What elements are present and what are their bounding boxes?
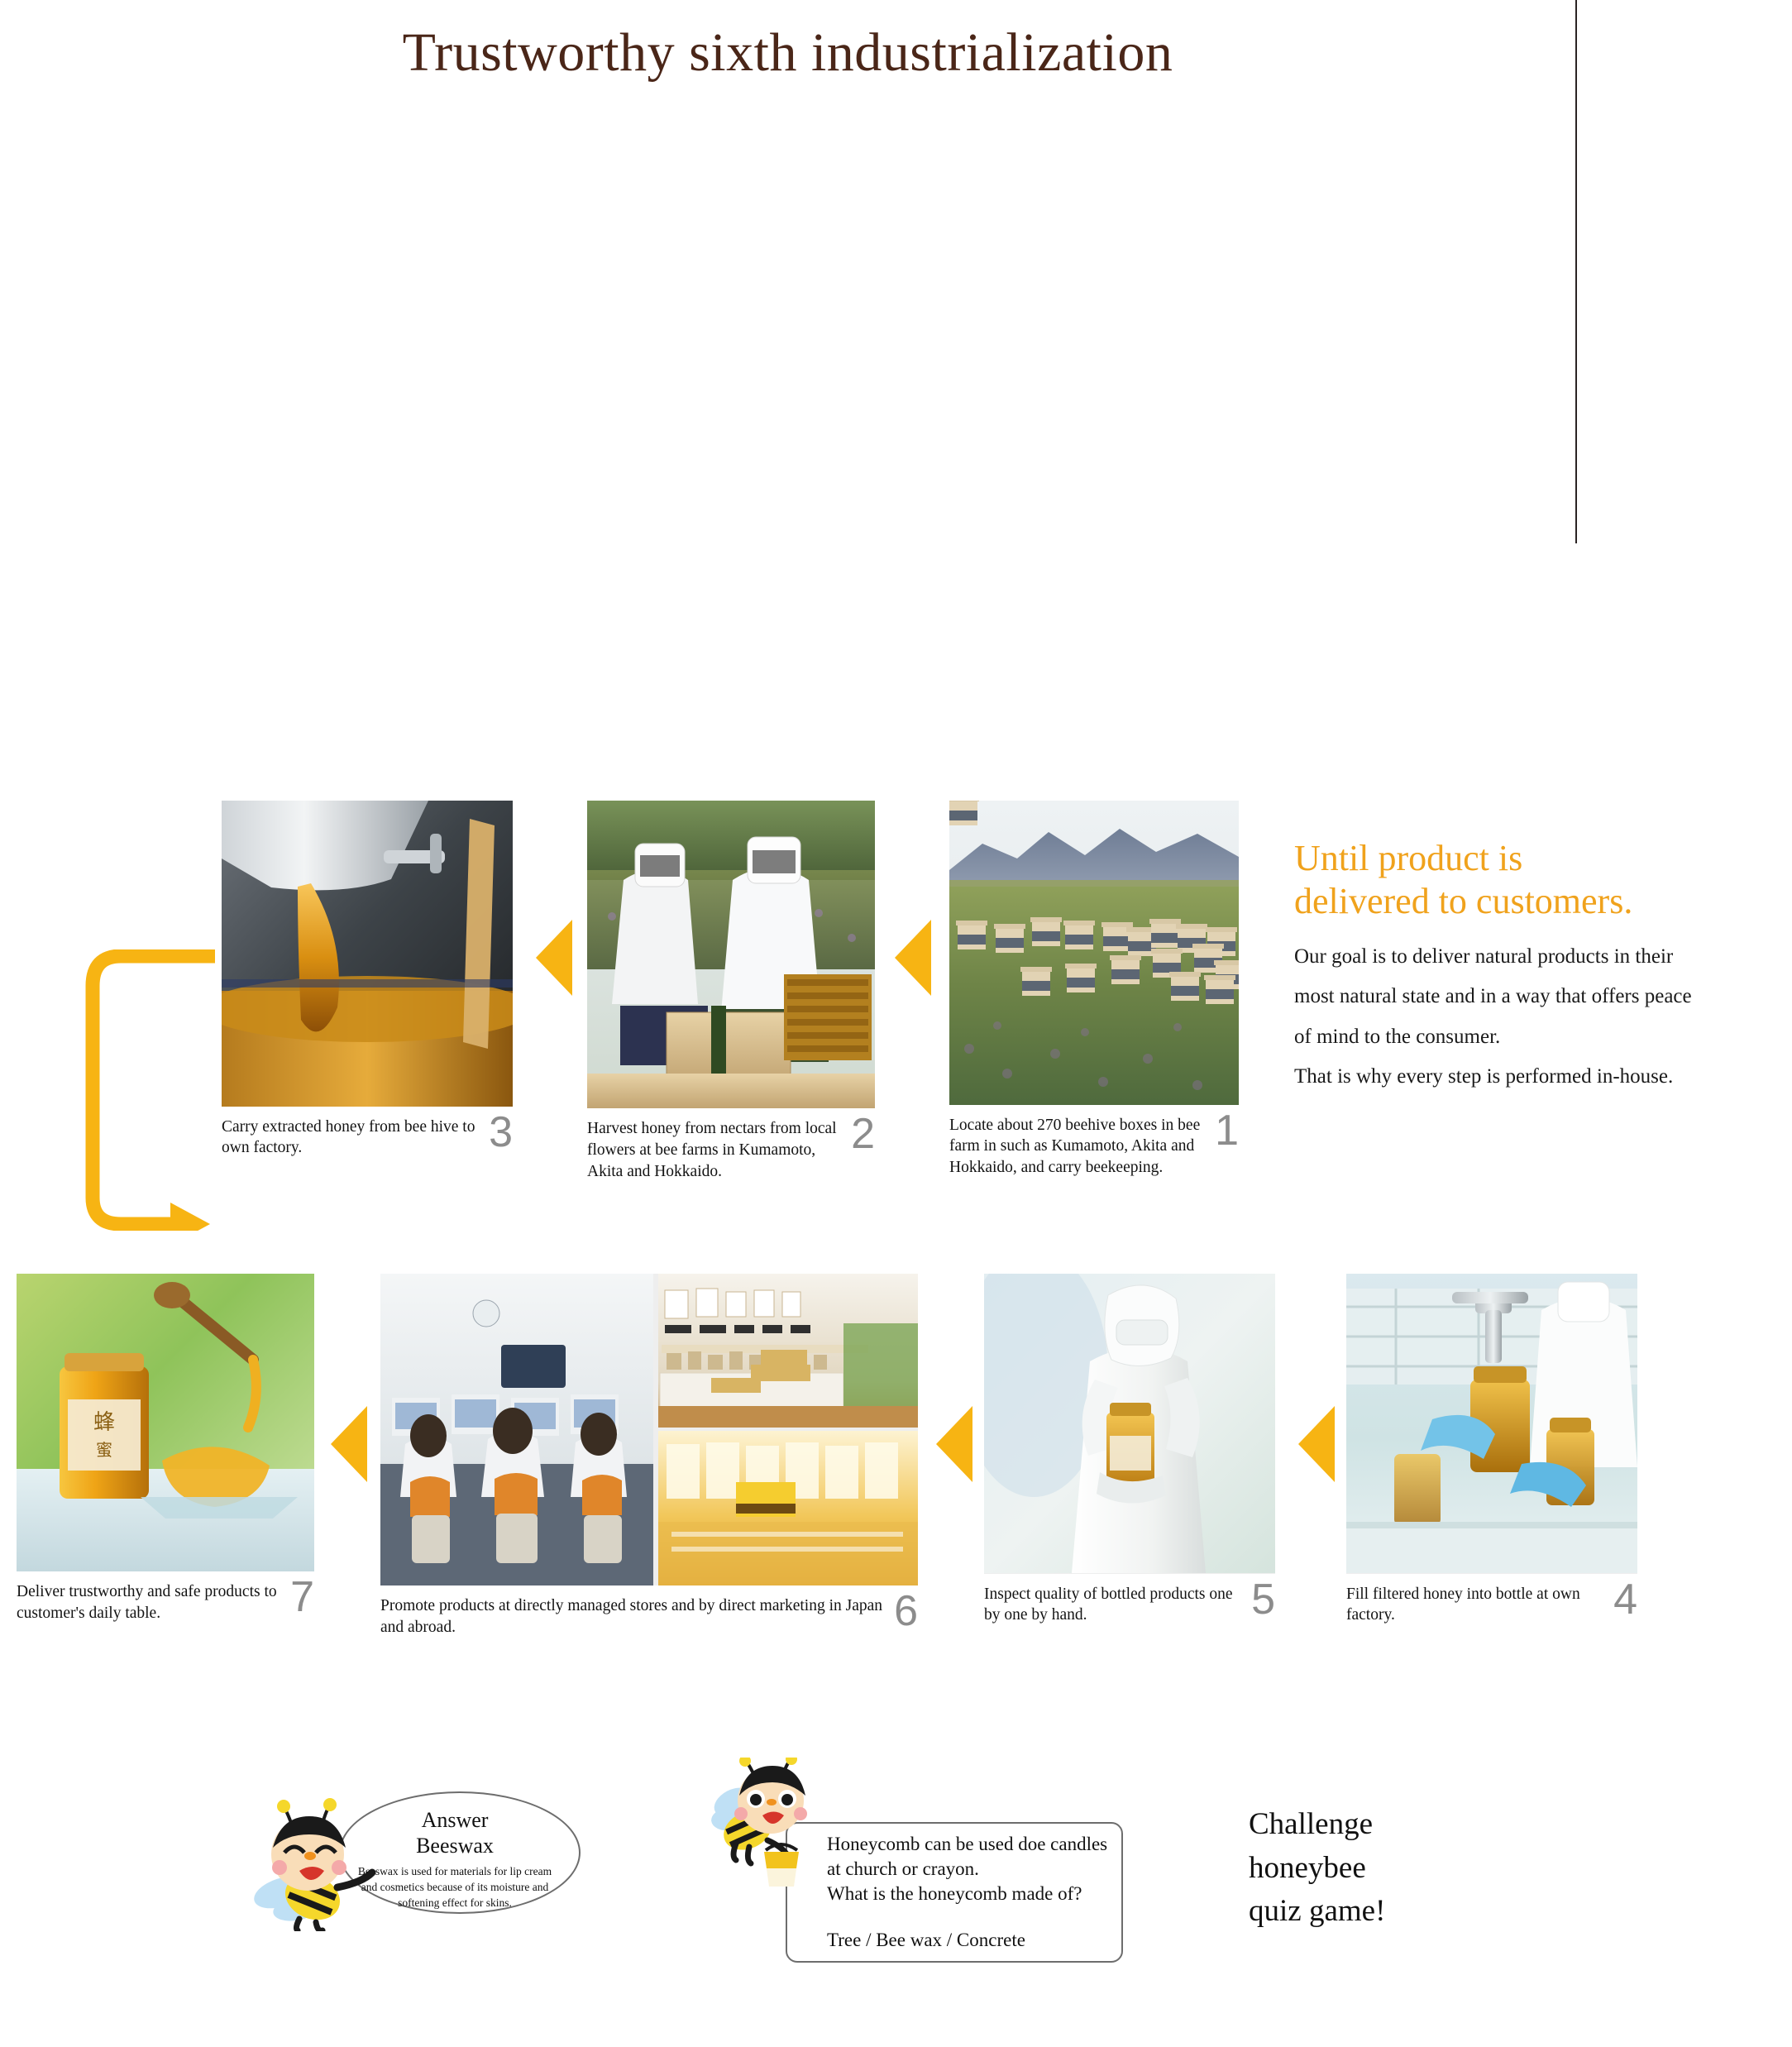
- flow-arrow-left-icon: [895, 920, 931, 996]
- process-step-2: Harvest honey from nectars from local fl…: [587, 801, 875, 1183]
- photo-art: [222, 801, 513, 1107]
- intro-heading: Until product is delivered to customers.: [1294, 837, 1741, 923]
- intro-body: Our goal is to deliver natural products …: [1294, 945, 1741, 1090]
- challenge-line-1: Challenge: [1249, 1803, 1522, 1847]
- flow-arrow-left-icon: [936, 1406, 972, 1482]
- step-number: 1: [1215, 1113, 1239, 1149]
- step-caption-text: Carry extracted honey from bee hive to o…: [222, 1117, 480, 1159]
- process-step-6: Promote products at directly managed sto…: [380, 1274, 918, 1638]
- step-caption: Harvest honey from nectars from local fl…: [587, 1108, 875, 1182]
- step-number: 7: [290, 1580, 314, 1615]
- quality-inspection-photo: [984, 1274, 1275, 1574]
- question-line-2: at church or crayon.: [827, 1857, 1125, 1882]
- process-step-5: Inspect quality of bottled products one …: [984, 1274, 1275, 1626]
- photo-art: [380, 1274, 918, 1585]
- beehive-boxes-in-field-photo: [949, 801, 1239, 1105]
- step-number: 2: [851, 1117, 875, 1152]
- process-step-7: 蜂 蜜 Deliver trustworthy and safe product…: [17, 1274, 314, 1624]
- step-caption: Promote products at directly managed sto…: [380, 1585, 918, 1638]
- step-caption: Locate about 270 beehive boxes in bee fa…: [949, 1105, 1239, 1179]
- step-caption: Carry extracted honey from bee hive to o…: [222, 1107, 513, 1159]
- honey-jar-on-table-photo: 蜂 蜜: [17, 1274, 314, 1571]
- intro-paragraph: That is why every step is performed in-h…: [1294, 1064, 1741, 1090]
- question-content: Honeycomb can be used doe candles at chu…: [827, 1832, 1125, 1953]
- step-caption: Inspect quality of bottled products one …: [984, 1574, 1275, 1626]
- process-step-3: Carry extracted honey from bee hive to o…: [222, 801, 513, 1159]
- photo-art: [984, 1274, 1275, 1573]
- step-number: 4: [1613, 1582, 1637, 1618]
- step-caption-text: Inspect quality of bottled products one …: [984, 1584, 1243, 1626]
- challenge-callout: Challenge honeybee quiz game!: [1249, 1803, 1522, 1934]
- call-center-and-stores-photo: [380, 1274, 918, 1585]
- svg-text:蜂: 蜂: [93, 1410, 115, 1434]
- step-number: 5: [1251, 1582, 1275, 1618]
- flow-arrow-left-icon: [536, 920, 572, 996]
- photo-art: [1346, 1274, 1637, 1573]
- step-caption-text: Promote products at directly managed sto…: [380, 1595, 886, 1638]
- beekeepers-harvesting-photo: [587, 801, 875, 1108]
- flow-arrow-wraparound-icon: [83, 949, 219, 1231]
- flow-arrow-left-icon: [331, 1406, 367, 1482]
- challenge-line-3: quiz game!: [1249, 1890, 1522, 1934]
- svg-text:蜜: 蜜: [96, 1441, 112, 1460]
- question-line-1: Honeycomb can be used doe candles: [827, 1832, 1125, 1857]
- step-number: 3: [489, 1115, 513, 1150]
- intro-paragraph: Our goal is to deliver natural products …: [1294, 945, 1741, 970]
- flow-arrow-left-icon: [1298, 1406, 1335, 1482]
- intro-heading-line-1: Until product is: [1294, 837, 1741, 880]
- step-number: 6: [894, 1594, 918, 1629]
- question-line-3: What is the honeycomb made of?: [827, 1882, 1125, 1906]
- bee-mascot-with-bucket-icon: [711, 1758, 827, 1894]
- step-caption-text: Locate about 270 beehive boxes in bee fa…: [949, 1115, 1207, 1179]
- step-caption-text: Deliver trustworthy and safe products to…: [17, 1581, 282, 1624]
- intro-block: Until product is delivered to customers.…: [1294, 837, 1741, 1090]
- challenge-line-2: honeybee: [1249, 1847, 1522, 1891]
- intro-paragraph: of mind to the consumer.: [1294, 1025, 1741, 1050]
- page-title: Trustworthy sixth industrialization: [0, 23, 1575, 84]
- bee-mascot-cheering-icon: [248, 1795, 389, 1931]
- intro-heading-line-2: delivered to customers.: [1294, 880, 1741, 923]
- honey-pouring-into-vat-photo: [222, 801, 513, 1107]
- step-caption-text: Harvest honey from nectars from local fl…: [587, 1118, 843, 1182]
- photo-art: [587, 801, 875, 1108]
- question-options: Tree / Bee wax / Concrete: [827, 1928, 1125, 1953]
- header-divider-rule: [1575, 0, 1577, 543]
- photo-art: 蜂 蜜: [17, 1274, 314, 1571]
- process-step-1: Locate about 270 beehive boxes in bee fa…: [949, 801, 1239, 1179]
- photo-art: [949, 801, 1239, 1105]
- step-caption: Fill filtered honey into bottle at own f…: [1346, 1574, 1637, 1626]
- intro-paragraph: most natural state and in a way that off…: [1294, 984, 1741, 1010]
- bottling-honey-photo: [1346, 1274, 1637, 1574]
- step-caption: Deliver trustworthy and safe products to…: [17, 1571, 314, 1624]
- step-caption-text: Fill filtered honey into bottle at own f…: [1346, 1584, 1605, 1626]
- process-step-4: Fill filtered honey into bottle at own f…: [1346, 1274, 1637, 1626]
